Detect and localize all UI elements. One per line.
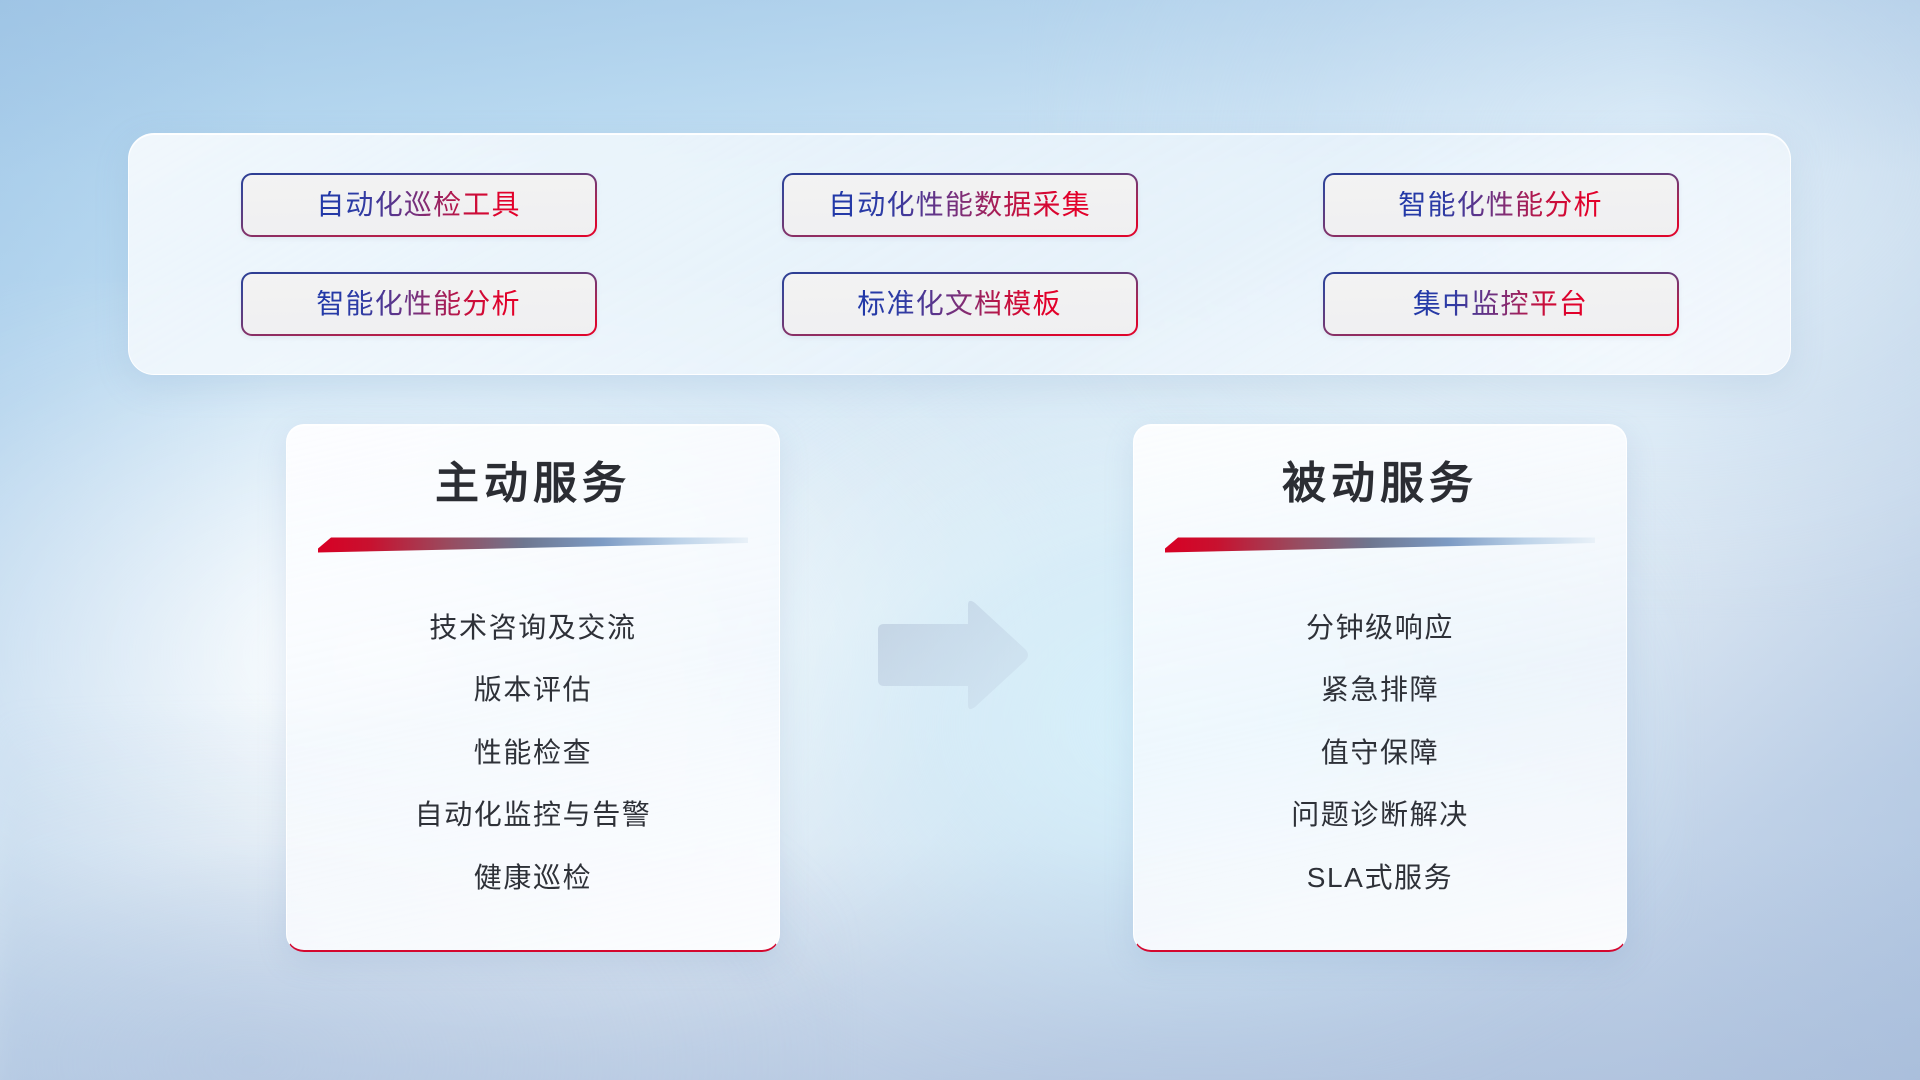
list-item: 自动化监控与告警 xyxy=(415,801,652,829)
tool-pill-label: 自动化性能数据采集 xyxy=(828,191,1091,219)
tool-pill-standardized-doc-template[interactable]: 标准化文档模板 xyxy=(782,272,1138,336)
card-title: 被动服务 xyxy=(1282,459,1478,510)
card-list: 技术咨询及交流 版本评估 性能检查 自动化监控与告警 健康巡检 xyxy=(317,580,749,926)
list-item: 版本评估 xyxy=(474,676,592,704)
list-item: SLA式服务 xyxy=(1307,864,1454,892)
tool-pill-label: 标准化文档模板 xyxy=(857,290,1061,318)
tools-panel: 自动化巡检工具 自动化性能数据采集 智能化性能分析 智能化性能分析 标准化文档模… xyxy=(128,133,1791,375)
card-passive-service[interactable]: 被动服务 分钟级响应 紧急排障 值守保障 问题诊断解决 SLA式服务 xyxy=(1133,424,1627,952)
list-item: 健康巡检 xyxy=(474,864,592,892)
list-item: 问题诊断解决 xyxy=(1291,801,1469,829)
list-item: 技术咨询及交流 xyxy=(429,614,636,642)
tool-pill-label: 自动化巡检工具 xyxy=(316,191,520,219)
tools-grid: 自动化巡检工具 自动化性能数据采集 智能化性能分析 智能化性能分析 标准化文档模… xyxy=(129,134,1790,374)
list-item: 紧急排障 xyxy=(1321,676,1439,704)
tool-pill-intelligent-performance-analysis-1[interactable]: 智能化性能分析 xyxy=(1323,173,1679,237)
list-item: 性能检查 xyxy=(474,739,592,767)
card-divider-gradient xyxy=(1165,532,1595,554)
flow-arrow-right-icon xyxy=(872,596,1032,714)
tool-pill-automated-inspection[interactable]: 自动化巡检工具 xyxy=(241,173,597,237)
list-item: 值守保障 xyxy=(1321,739,1439,767)
tool-pill-label: 智能化性能分析 xyxy=(1398,191,1602,219)
tool-pill-intelligent-performance-analysis-2[interactable]: 智能化性能分析 xyxy=(241,272,597,336)
list-item: 分钟级响应 xyxy=(1306,614,1454,642)
card-list: 分钟级响应 紧急排障 值守保障 问题诊断解决 SLA式服务 xyxy=(1164,580,1596,926)
card-divider-gradient xyxy=(318,532,748,554)
card-active-service[interactable]: 主动服务 技术咨询及交流 版本评估 性能检查 自动化监控与告警 健康巡检 xyxy=(286,424,780,952)
card-title: 主动服务 xyxy=(435,459,631,510)
tool-pill-label: 智能化性能分析 xyxy=(316,290,520,318)
tool-pill-label: 集中监控平台 xyxy=(1413,290,1588,318)
tool-pill-automated-performance-collection[interactable]: 自动化性能数据采集 xyxy=(782,173,1138,237)
tool-pill-centralized-monitoring-platform[interactable]: 集中监控平台 xyxy=(1323,272,1679,336)
